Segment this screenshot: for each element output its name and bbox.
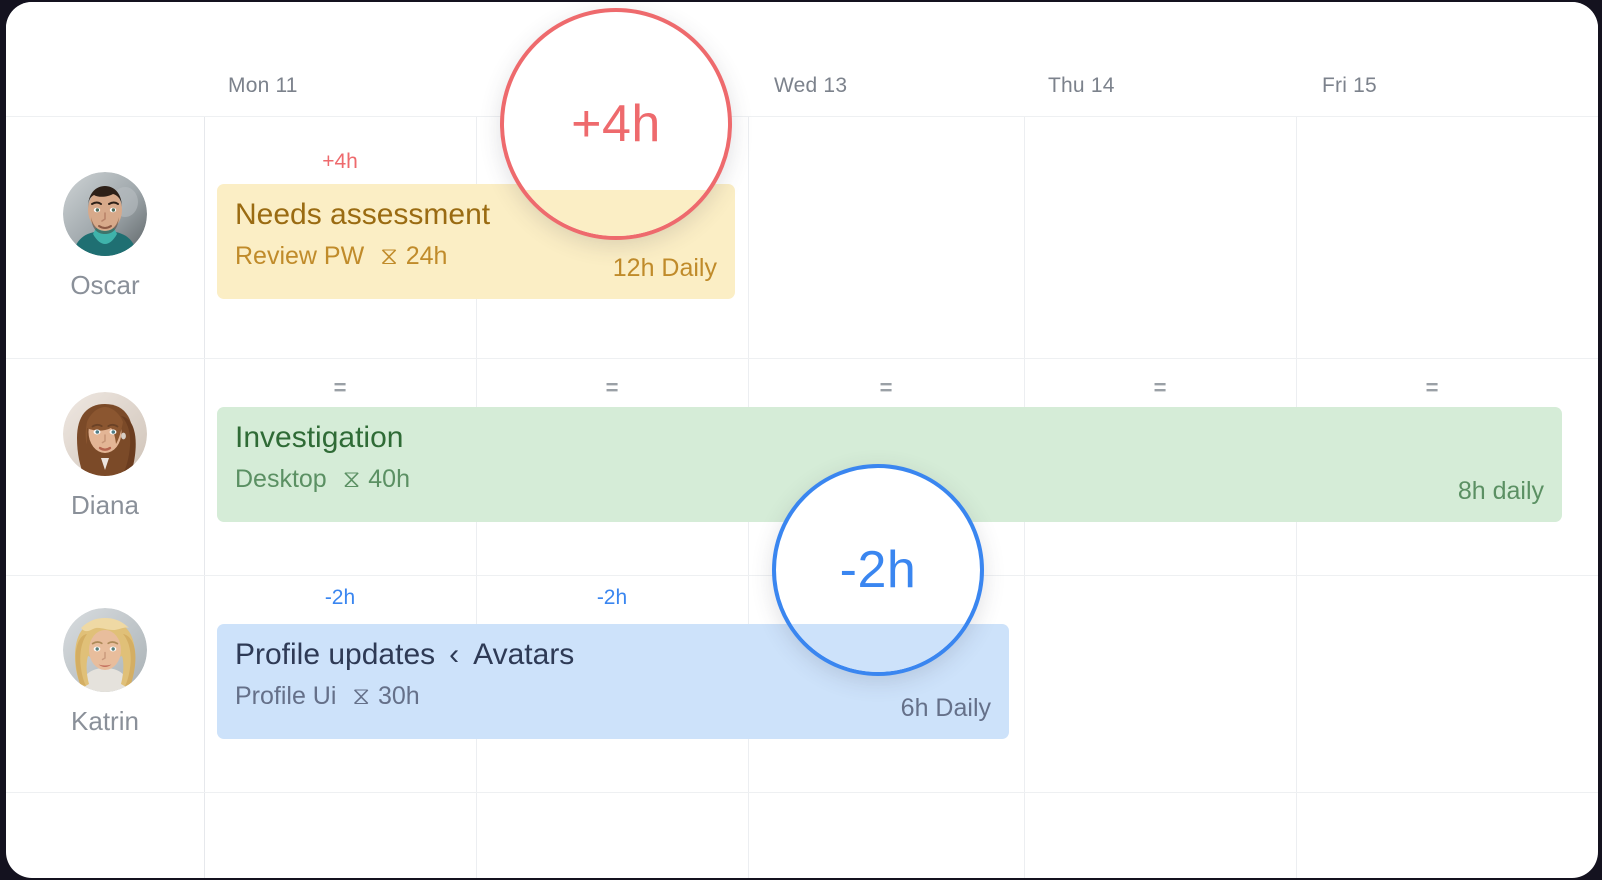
task-duration-40h: 40h bbox=[368, 466, 410, 494]
delta-diana-tue: = bbox=[476, 377, 748, 399]
overallocation-badge[interactable]: +4h bbox=[500, 8, 732, 240]
grid-hline-header bbox=[6, 116, 1598, 117]
underallocation-badge[interactable]: -2h bbox=[772, 464, 984, 676]
task-meta-profile-updates: Profile Ui ⧖ 30h bbox=[235, 683, 991, 711]
day-header-wed-13[interactable]: Wed 13 bbox=[774, 74, 847, 98]
avatar-oscar[interactable] bbox=[63, 172, 147, 256]
task-duration-30h: 30h bbox=[378, 683, 420, 711]
person-name-katrin: Katrin bbox=[6, 706, 204, 737]
task-daily-12h: 12h Daily bbox=[613, 254, 717, 283]
delta-katrin-mon: -2h bbox=[204, 586, 476, 610]
day-header-fri-15[interactable]: Fri 15 bbox=[1322, 74, 1377, 98]
underallocation-badge-fill-bottom bbox=[776, 624, 980, 672]
delta-diana-thu: = bbox=[1024, 377, 1296, 399]
grid-hline-row3 bbox=[6, 792, 1598, 793]
delta-katrin-tue: -2h bbox=[476, 586, 748, 610]
task-project-profile-ui: Profile Ui bbox=[235, 683, 336, 711]
delta-oscar-mon: +4h bbox=[204, 150, 476, 174]
delta-diana-fri: = bbox=[1296, 377, 1568, 399]
avatar-katrin[interactable] bbox=[63, 608, 147, 692]
task-project-review-pw: Review PW bbox=[235, 243, 364, 271]
hourglass-icon: ⧖ bbox=[352, 683, 370, 711]
hourglass-icon: ⧖ bbox=[343, 466, 361, 494]
overallocation-badge-fill-bottom bbox=[504, 190, 728, 236]
task-title-investigation: Investigation bbox=[235, 421, 1544, 454]
hourglass-icon: ⧖ bbox=[380, 243, 398, 271]
task-title-main: Profile updates bbox=[235, 638, 435, 671]
underallocation-badge-label: -2h bbox=[840, 540, 917, 600]
delta-diana-mon: = bbox=[204, 377, 476, 399]
person-katrin[interactable]: Katrin bbox=[6, 608, 204, 737]
task-duration-24h: 24h bbox=[406, 243, 448, 271]
overallocation-badge-label: +4h bbox=[571, 94, 661, 154]
chevron-left-icon: ‹ bbox=[449, 638, 459, 671]
person-diana[interactable]: Diana bbox=[6, 392, 204, 521]
grid-vline-people bbox=[204, 2, 205, 878]
day-header-thu-14[interactable]: Thu 14 bbox=[1048, 74, 1115, 98]
task-daily-8h: 8h daily bbox=[1458, 477, 1544, 506]
day-header-mon-11[interactable]: Mon 11 bbox=[228, 74, 298, 98]
grid-hline-row1 bbox=[6, 358, 1598, 359]
person-name-oscar: Oscar bbox=[6, 270, 204, 301]
delta-diana-wed: = bbox=[748, 377, 1024, 399]
day-header: Mon 11 Tue 12 Wed 13 Thu 14 Fri 15 bbox=[6, 2, 1598, 116]
person-name-diana: Diana bbox=[6, 490, 204, 521]
avatar-diana[interactable] bbox=[63, 392, 147, 476]
task-subtitle-avatars: Avatars bbox=[473, 638, 574, 671]
task-daily-6h: 6h Daily bbox=[901, 694, 991, 723]
task-project-desktop: Desktop bbox=[235, 466, 327, 494]
person-oscar[interactable]: Oscar bbox=[6, 172, 204, 301]
schedule-board: Mon 11 Tue 12 Wed 13 Thu 14 Fri 15 bbox=[6, 2, 1598, 878]
